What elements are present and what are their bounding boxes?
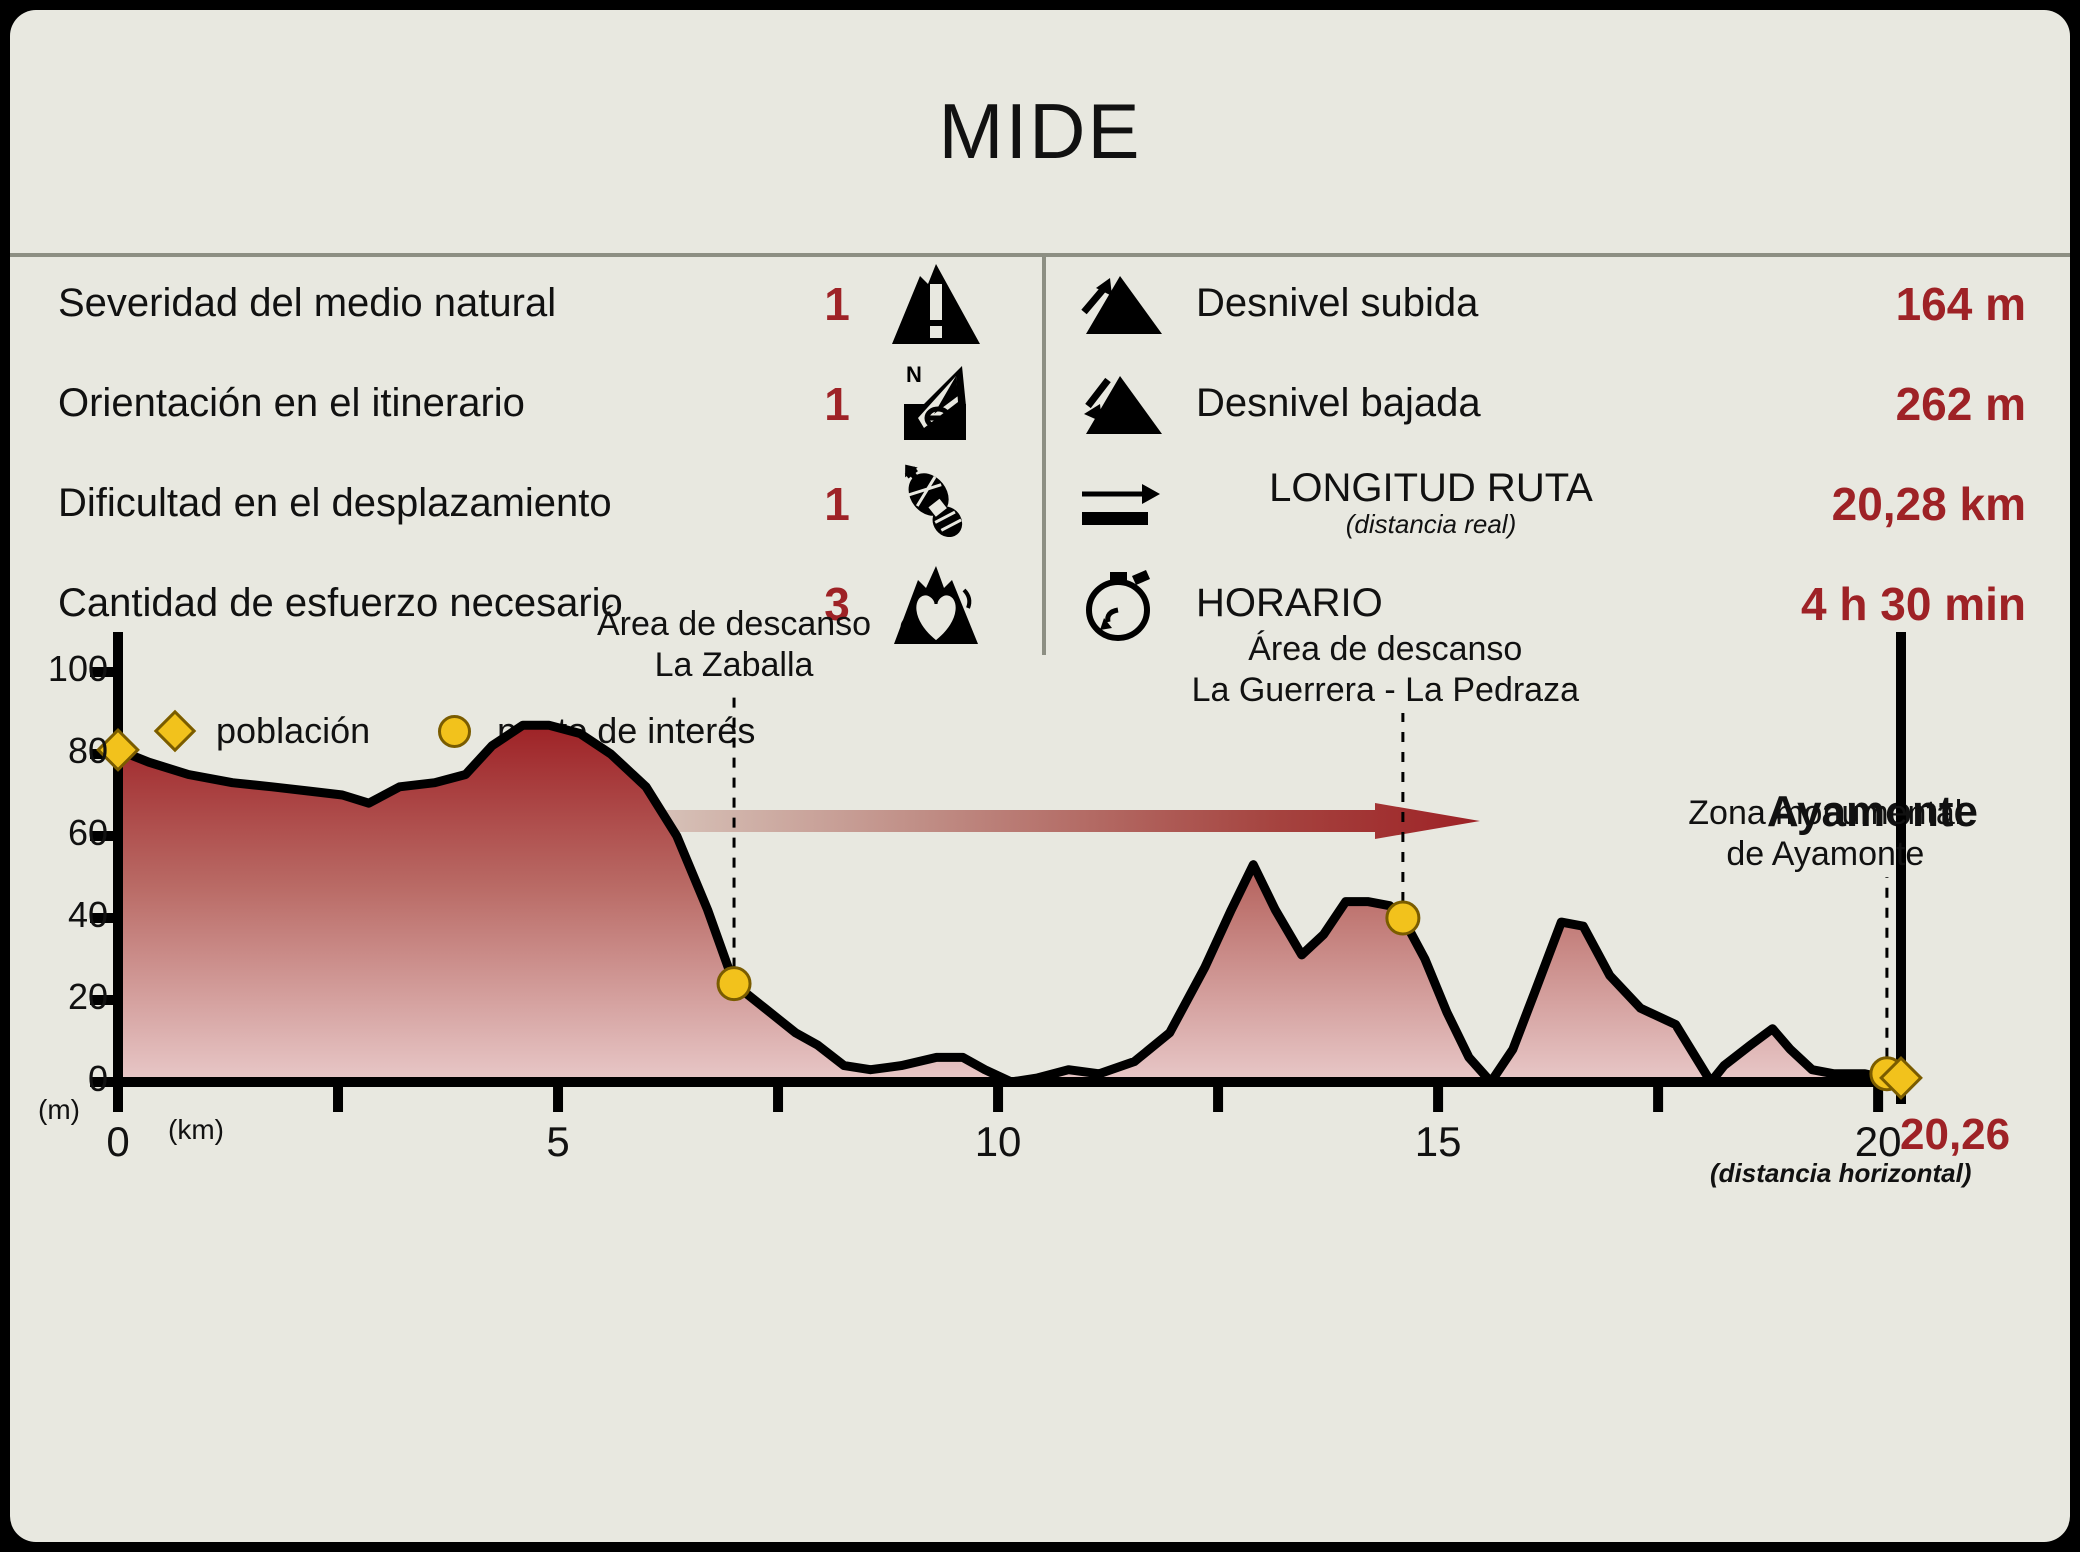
- stat-label: Desnivel bajada: [1196, 381, 1726, 426]
- mountain-warning-icon: [876, 262, 996, 346]
- stat-row-desnivel-bajada: Desnivel bajada 262 m: [1046, 354, 2070, 453]
- mide-row-severidad: Severidad del medio natural 1: [10, 254, 1042, 353]
- mide-label: Severidad del medio natural: [58, 281, 798, 326]
- boot-print-icon: [876, 462, 996, 546]
- stat-value: 262 m: [1726, 377, 2026, 431]
- stat-label: HORARIO: [1196, 581, 1666, 626]
- point-of-interest-marker[interactable]: [718, 968, 750, 1000]
- stat-value: 164 m: [1726, 277, 2026, 331]
- mide-table: Severidad del medio natural 1 Orientació…: [10, 253, 2070, 655]
- profile-area: [118, 725, 1901, 1082]
- mountain-up-arrow-icon: [1046, 272, 1196, 336]
- mide-card: MIDE Severidad del medio natural 1 Orien…: [10, 10, 2070, 1542]
- stat-row-longitud-ruta: LONGITUD RUTA (distancia real) 20,28 km: [1046, 454, 2070, 553]
- distance-arrow-icon: [1046, 474, 1196, 534]
- stat-label: Desnivel subida: [1196, 281, 1726, 326]
- mountain-down-arrow-icon: [1046, 372, 1196, 436]
- page-title-text: MIDE: [939, 86, 1142, 177]
- elevation-profile-chart: [10, 630, 2070, 1542]
- mide-label: Dificultad en el desplazamiento: [58, 481, 798, 526]
- stat-row-desnivel-subida: Desnivel subida 164 m: [1046, 254, 2070, 353]
- stat-value: 4 h 30 min: [1666, 577, 2026, 631]
- compass-map-icon: N: [876, 362, 996, 446]
- stat-value: 20,28 km: [1696, 477, 2026, 531]
- svg-text:N: N: [906, 362, 922, 387]
- stat-sublabel: (distancia real): [1346, 509, 1517, 540]
- mide-value: 1: [798, 477, 876, 531]
- mide-row-dificultad: Dificultad en el desplazamiento 1: [10, 454, 1042, 553]
- stat-label: LONGITUD RUTA: [1269, 467, 1593, 509]
- page-title: MIDE: [10, 10, 2070, 253]
- mide-value: 3: [798, 577, 876, 631]
- mide-value: 1: [798, 277, 876, 331]
- mide-label: Orientación en el itinerario: [58, 381, 798, 426]
- point-of-interest-marker[interactable]: [1387, 902, 1419, 934]
- mide-value: 1: [798, 377, 876, 431]
- mide-label: Cantidad de esfuerzo necesario: [58, 581, 798, 626]
- mide-row-orientacion: Orientación en el itinerario 1 N: [10, 354, 1042, 453]
